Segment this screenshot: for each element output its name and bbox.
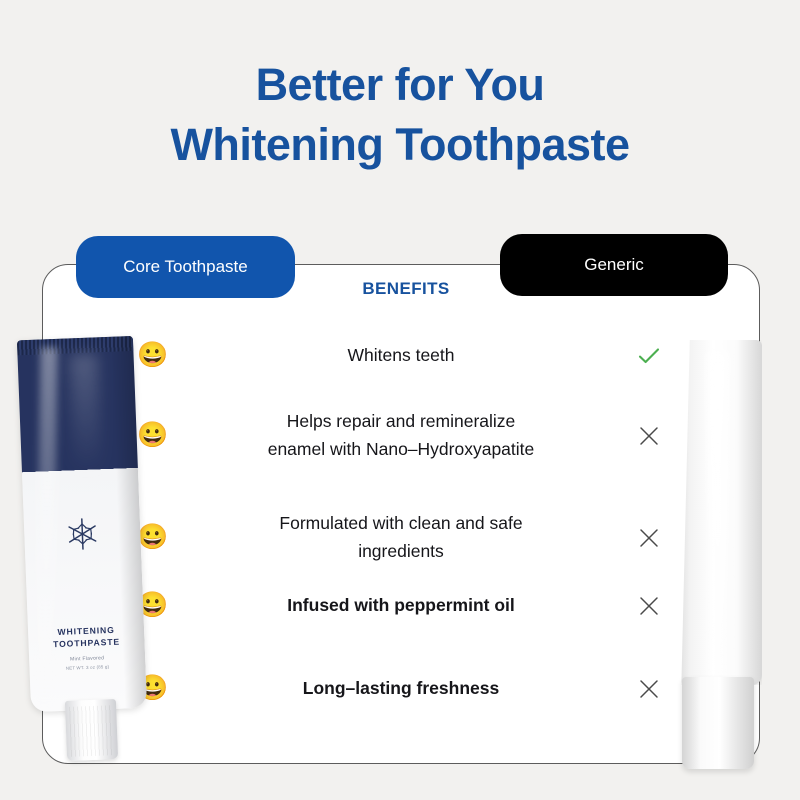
cross-icon [638, 527, 660, 549]
column-header-core-toothpaste[interactable]: Core Toothpaste [76, 236, 295, 298]
table-row: 😀 Infused with peppermint oil [42, 592, 760, 620]
column-header-generic[interactable]: Generic [500, 234, 728, 296]
column-header-core-label: Core Toothpaste [123, 257, 247, 277]
tube-highlight-secondary [69, 353, 102, 474]
core-tube-body: WHITENING TOOTHPASTE Mint Flavored NET W… [17, 336, 147, 712]
cross-icon [638, 425, 660, 447]
generic-toothpaste-product-image [668, 340, 788, 765]
benefits-table: 😀 Whitens teeth 😀 Helps repair and remin… [42, 320, 760, 740]
cell-benefit-text: Long–lasting freshness [264, 675, 538, 703]
generic-tube-cap [682, 677, 754, 769]
table-row: 😀 Helps repair and remineralize enamel w… [42, 408, 760, 463]
generic-tube-body [678, 340, 762, 685]
cell-benefit-text: Infused with peppermint oil [264, 592, 538, 620]
column-header-benefits-label: BENEFITS [362, 279, 449, 298]
cross-icon [638, 595, 660, 617]
core-tube-cap [65, 699, 118, 761]
core-toothpaste-product-image: WHITENING TOOTHPASTE Mint Flavored NET W… [18, 338, 146, 763]
page-title-line-2: Whitening Toothpaste [0, 115, 800, 175]
cell-benefit-text: Whitens teeth [264, 342, 538, 370]
column-header-benefits: BENEFITS [285, 279, 527, 299]
check-icon [636, 343, 662, 369]
table-row: 😀 Whitens teeth [42, 342, 760, 370]
page-title: Better for You Whitening Toothpaste [0, 55, 800, 175]
cross-icon [638, 678, 660, 700]
column-header-generic-label: Generic [584, 255, 644, 275]
core-tube-label: WHITENING TOOTHPASTE Mint Flavored NET W… [28, 623, 146, 673]
cell-benefit-text: Formulated with clean and safe ingredien… [264, 510, 538, 565]
table-row: 😀 Formulated with clean and safe ingredi… [42, 510, 760, 565]
table-row: 😀 Long–lasting freshness [42, 675, 760, 703]
cell-benefit-text: Helps repair and remineralize enamel wit… [264, 408, 538, 463]
page-title-line-1: Better for You [256, 59, 545, 110]
generic-tube-highlight [708, 350, 728, 680]
snowflake-icon [62, 513, 104, 560]
